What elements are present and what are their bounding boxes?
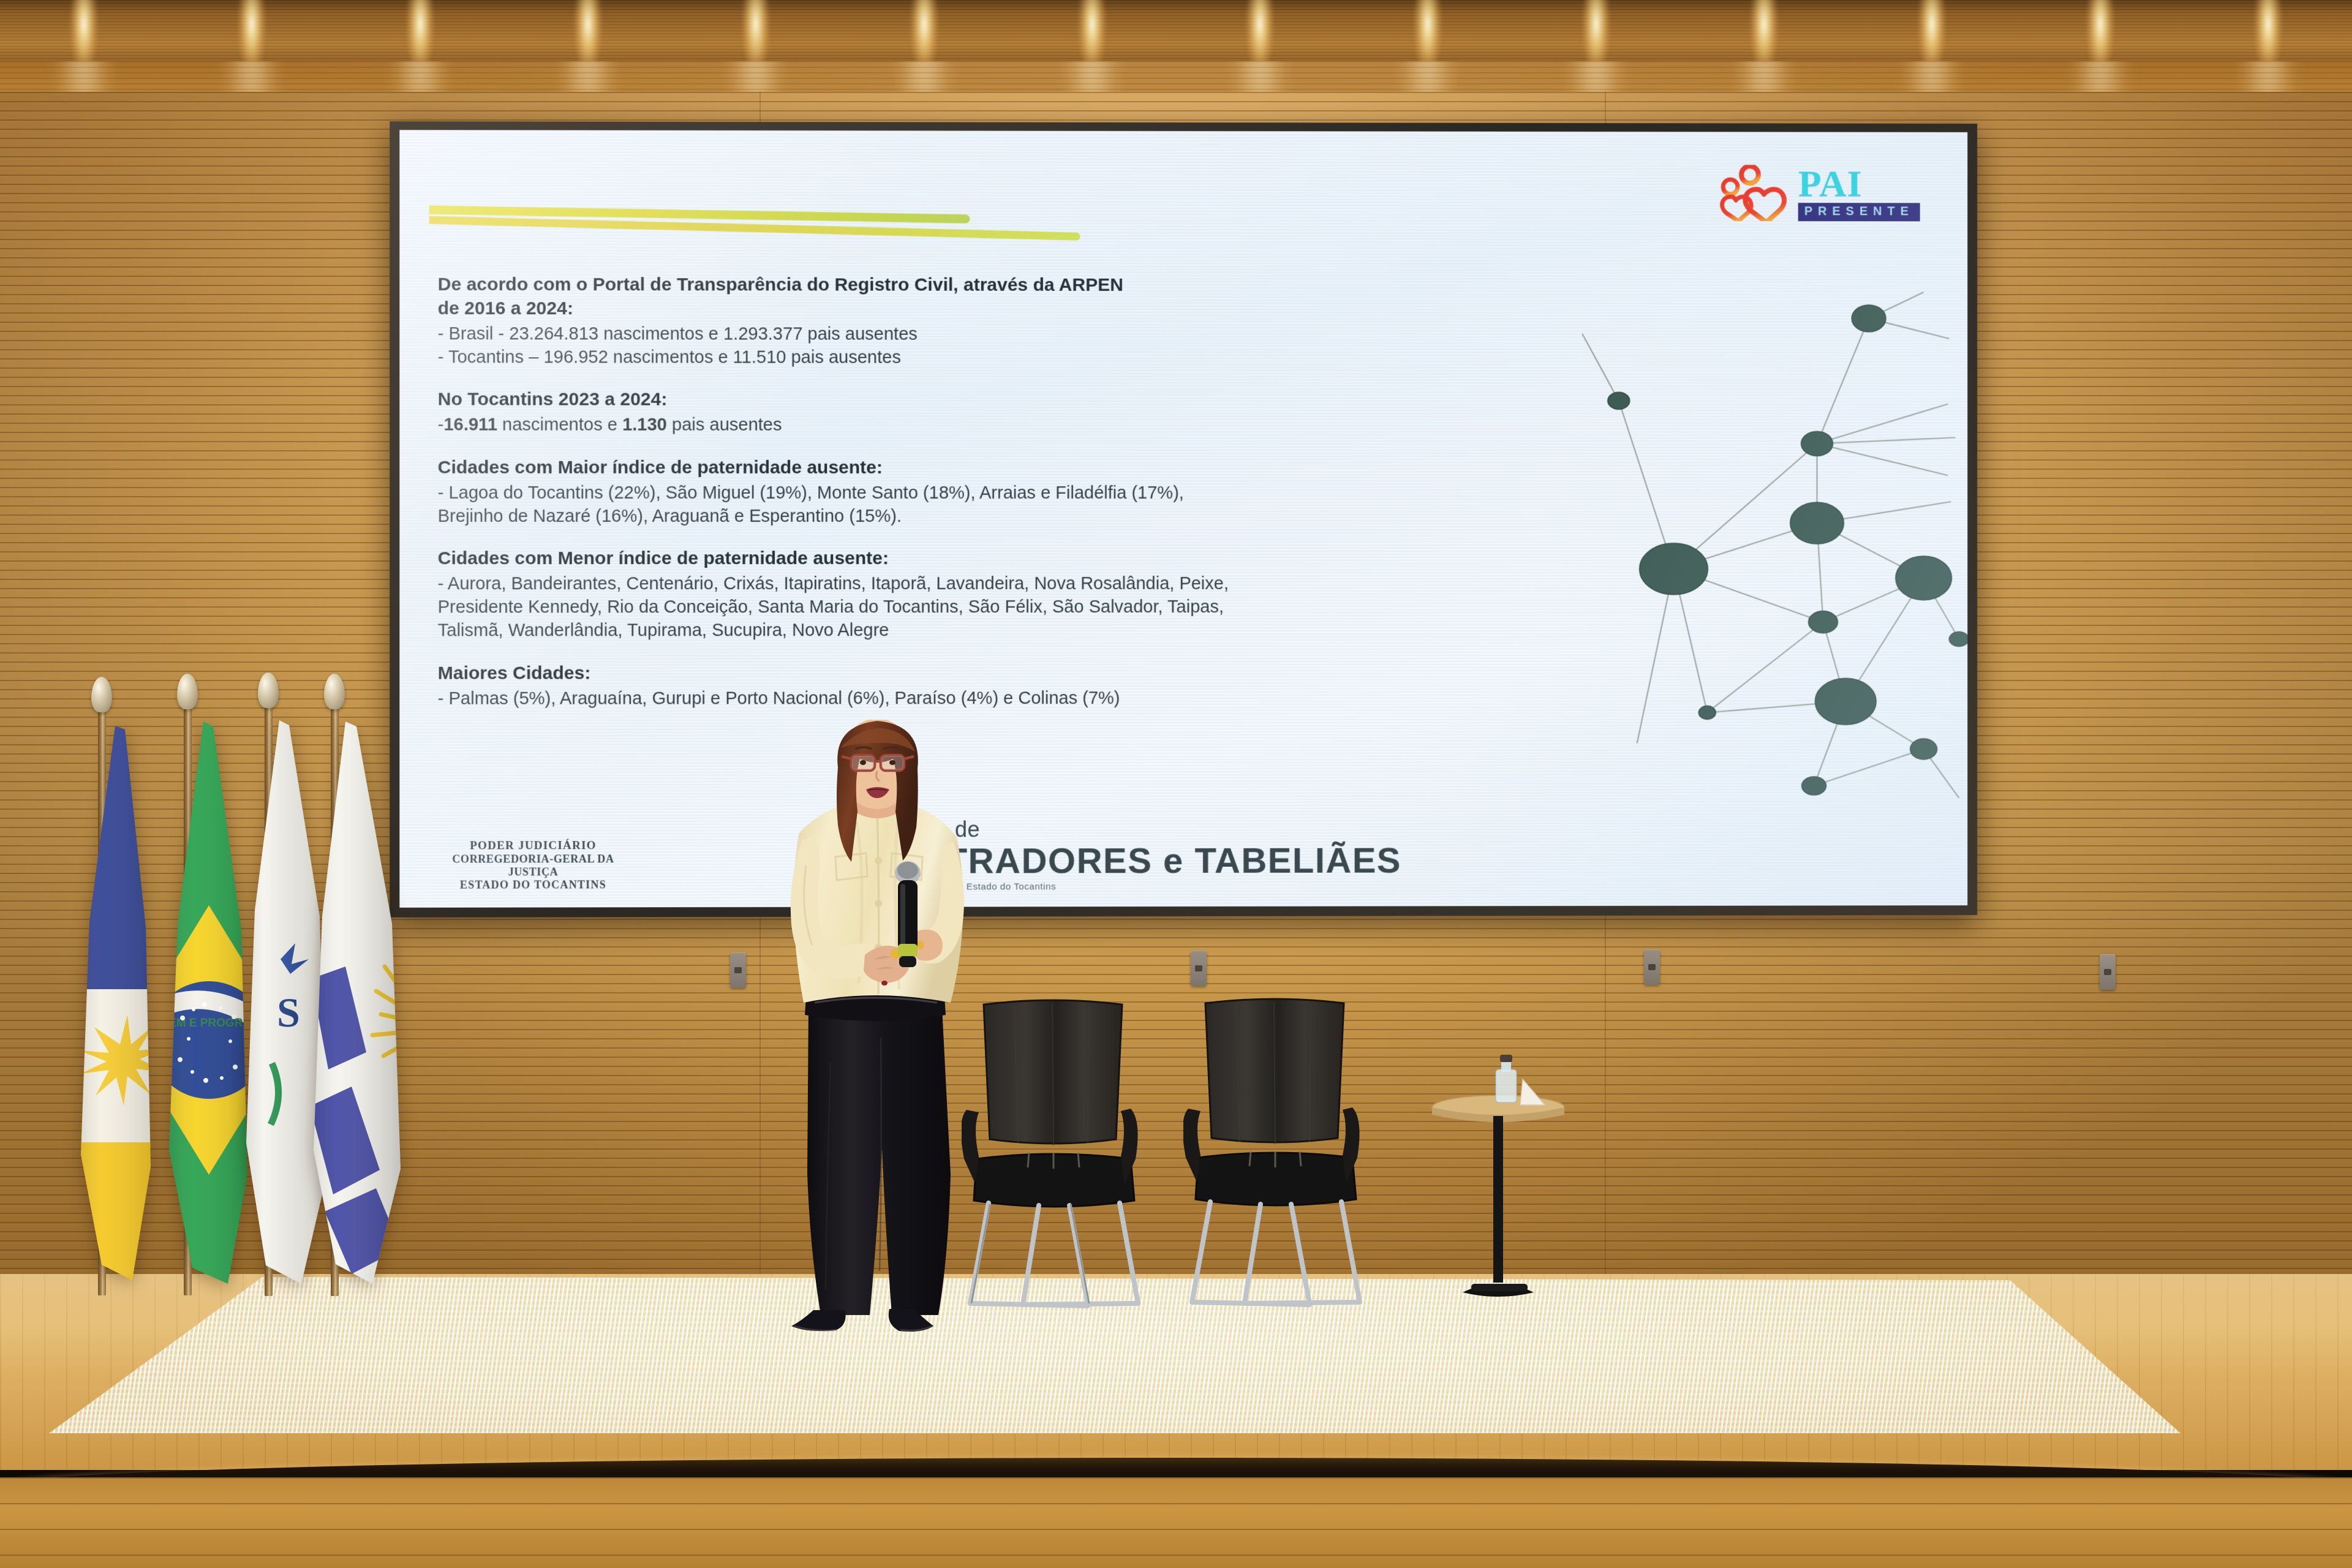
brasao-judiciario: PODER JUDICIÁRIO CORREGEDORIA-GERAL DA J… — [432, 839, 635, 892]
presentation-screen-bezel: PAI PRESENTE — [390, 121, 1977, 918]
tocantins-prefix: - — [438, 415, 444, 435]
pai-wordmark: PAI PRESENTE — [1798, 167, 1920, 221]
maiores-cidades-heading: Maiores Cidades: — [438, 660, 1395, 685]
fonte-line-brasil: - Brasil - 23.264.813 nascimentos e 1.29… — [438, 323, 1395, 347]
slide-text-body: De acordo com o Portal de Transparência … — [438, 273, 1395, 729]
slide-block-maiores-cidades: Maiores Cidades: - Palmas (5%), Araguaín… — [438, 660, 1395, 710]
menor-indice-line-2: Presidente Kennedy, Rio da Conceição, Sa… — [438, 596, 1395, 619]
tocantins-heading: No Tocantins 2023 a 2024: — [438, 388, 1395, 412]
slide-block-menor-indice: Cidades com Menor índice de paternidade … — [438, 546, 1395, 643]
presente-text: PRESENTE — [1804, 205, 1914, 219]
fonte-heading-line-2: de 2016 a 2024: — [438, 296, 1395, 321]
network-graphic — [1582, 260, 1967, 811]
menor-indice-line-1: - Aurora, Bandeirantes, Centenário, Crix… — [438, 573, 1395, 596]
slide-block-tocantins-2023-2024: No Tocantins 2023 a 2024: -16.911 nascim… — [438, 388, 1395, 437]
tocantins-stats-line: -16.911 nascimentos e 1.130 pais ausente… — [438, 414, 1395, 437]
maiores-cidades-line-1: - Palmas (5%), Araguaína, Gurupi e Porto… — [438, 687, 1395, 710]
pai-brand-text: PAI — [1798, 167, 1920, 202]
flag-striped-blue — [293, 722, 421, 1297]
outlet-socket-icon — [1648, 964, 1656, 970]
tocantins-mid-text: nascimentos e — [497, 415, 622, 435]
maior-indice-line-2: Brejinho de Nazaré (16%), Araguanã e Esp… — [438, 505, 1395, 529]
water-bottle-icon — [1496, 1055, 1517, 1102]
slide-block-maior-indice: Cidades com Maior índice de paternidade … — [438, 456, 1395, 529]
auditorium-scene: PAI PRESENTE — [0, 0, 2352, 1568]
tocantins-suffix-text: pais ausentes — [667, 415, 782, 435]
presentation-screen[interactable]: PAI PRESENTE — [399, 130, 1967, 908]
wall-outlet-plate[interactable] — [1191, 951, 1207, 986]
maior-indice-line-1: - Lagoa do Tocantins (22%), São Miguel (… — [438, 482, 1395, 505]
microphone-icon — [895, 861, 921, 967]
brasao-line-1: PODER JUDICIÁRIO — [432, 839, 635, 853]
side-table[interactable] — [1427, 1047, 1568, 1311]
presente-bar: PRESENTE — [1798, 203, 1920, 221]
fonte-heading-line-1: De acordo com o Portal de Transparência … — [438, 273, 1395, 297]
menor-indice-line-3: Talismã, Wanderlândia, Tupirama, Sucupir… — [438, 619, 1395, 643]
wall-outlet-plate[interactable] — [2100, 954, 2116, 990]
brasao-line-3: ESTADO DO TOCANTINS — [432, 878, 635, 892]
outlet-socket-icon — [2104, 969, 2111, 975]
slide-block-fonte: De acordo com o Portal de Transparência … — [438, 273, 1395, 370]
hearts-icon — [1714, 165, 1787, 221]
outlet-socket-icon — [1195, 965, 1202, 971]
stage-front-panel — [0, 1477, 2352, 1568]
chair-right[interactable] — [1183, 997, 1367, 1328]
slide-footer: PODER JUDICIÁRIO CORREGEDORIA-GERAL DA J… — [399, 810, 1967, 898]
brasao-line-2: CORREGEDORIA-GERAL DA JUSTIÇA — [432, 853, 635, 879]
fonte-line-tocantins: - Tocantins – 196.952 nascimentos e 11.5… — [438, 346, 1395, 370]
pai-presente-logo: PAI PRESENTE — [1714, 165, 1920, 221]
menor-indice-heading: Cidades com Menor índice de paternidade … — [438, 546, 1395, 570]
maior-indice-heading: Cidades com Maior índice de paternidade … — [438, 456, 1395, 480]
presenter — [735, 720, 1017, 1335]
tocantins-pais-ausentes-value: 1.130 — [622, 415, 667, 435]
wall-outlet-plate[interactable] — [1644, 949, 1660, 985]
slide-accent-lines — [429, 203, 1093, 246]
tocantins-nascimentos-value: 16.911 — [443, 415, 497, 435]
